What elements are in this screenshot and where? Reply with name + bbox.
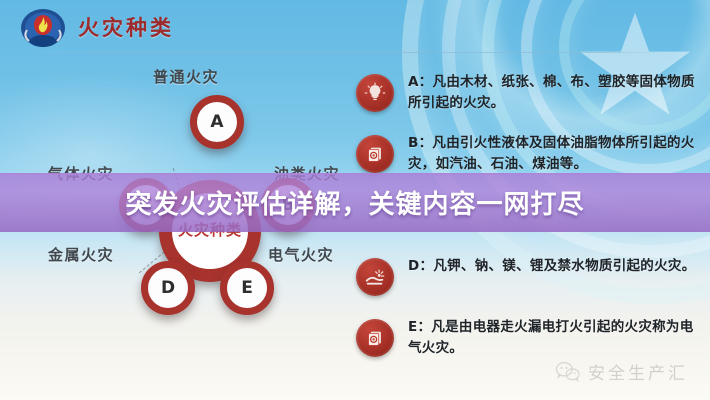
diagram-label-e: 电气火灾	[268, 244, 334, 265]
diagram-node-e[interactable]: E	[220, 261, 274, 315]
diagram-node-a[interactable]: A	[190, 95, 244, 149]
diagram-node-e-letter: E	[241, 278, 253, 298]
headline-band: 突发火灾评估详解，关键内容一网打尽	[0, 173, 710, 232]
list-item-body: 凡由木材、纸张、棉、布、塑胶等固体物质所引起的火灾。	[408, 74, 695, 111]
header: 火灾种类	[0, 0, 710, 58]
electrical-box-icon	[356, 319, 394, 357]
watermark: 安全生产汇	[555, 359, 688, 384]
list-item-prefix: D：	[408, 258, 433, 274]
list-item-body: 凡是由电器走火漏电打火引起的火灾称为电气火灾。	[408, 319, 694, 356]
diagram-node-d-letter: D	[161, 278, 175, 298]
list-item: A：凡由木材、纸张、棉、布、塑胶等固体物质所引起的火灾。	[356, 72, 706, 124]
list-item-prefix: A：	[408, 74, 433, 90]
oil-drum-icon	[356, 135, 394, 173]
list-item-text: B：凡由引火性液体及固体油脂物体所引起的火灾，如汽油、石油、煤油等。	[408, 133, 706, 175]
list-item: D：凡钾、钠、镁、锂及禁水物质引起的火灾。	[356, 256, 706, 308]
diagram-node-a-letter: A	[210, 112, 223, 132]
diagram-node-d[interactable]: D	[141, 261, 195, 315]
list-item-text: A：凡由木材、纸张、棉、布、塑胶等固体物质所引起的火灾。	[408, 72, 706, 114]
list-item-body: 凡由引火性液体及固体油脂物体所引起的火灾，如汽油、石油、煤油等。	[408, 135, 695, 172]
page-title: 火灾种类	[78, 12, 174, 42]
list-item-text: D：凡钾、钠、镁、锂及禁水物质引起的火灾。	[408, 256, 706, 277]
list-item-body: 凡钾、钠、镁、锂及禁水物质引起的火灾。	[433, 258, 695, 274]
wechat-icon	[555, 361, 581, 383]
fire-service-emblem-icon	[20, 8, 66, 50]
list-item-text: E：凡是由电器走火漏电打火引起的火灾称为电气火灾。	[408, 317, 706, 359]
headline-text: 突发火灾评估详解，关键内容一网打尽	[125, 184, 584, 221]
poster-canvas: 火灾种类 普通火灾 A 气体火灾 C 油类火灾 B 火灾种类 金属火灾	[0, 0, 710, 400]
metal-spark-icon	[356, 258, 394, 296]
lightbulb-icon	[356, 74, 394, 112]
watermark-label: 安全生产汇	[588, 359, 688, 384]
diagram-label-a: 普通火灾	[153, 66, 219, 87]
diagram-label-d: 金属火灾	[48, 244, 114, 265]
list-item-prefix: B：	[408, 135, 432, 151]
header-divider	[38, 52, 672, 53]
list-item-prefix: E：	[408, 319, 431, 335]
